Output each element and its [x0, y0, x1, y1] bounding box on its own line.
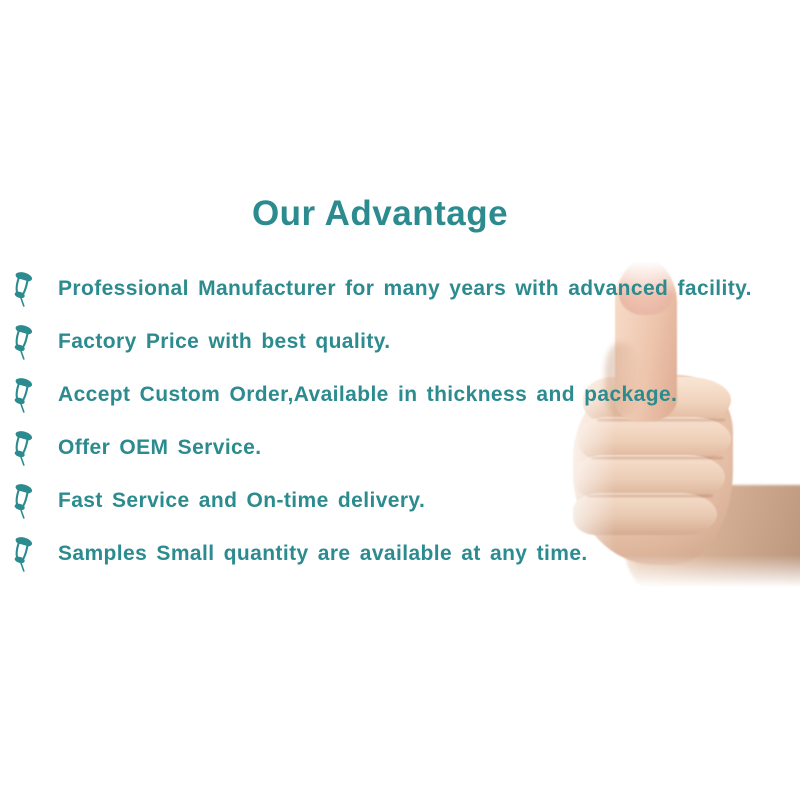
advantage-text: Samples Small quantity are available at …	[58, 542, 588, 566]
push-pin-icon	[6, 377, 40, 413]
list-item: Offer OEM Service.	[0, 421, 800, 474]
advantages-list: Professional Manufacturer for many years…	[0, 262, 800, 580]
push-pin-icon	[6, 324, 40, 360]
advantage-text: Fast Service and On-time delivery.	[58, 489, 425, 513]
advantage-text: Accept Custom Order,Available in thickne…	[58, 383, 677, 407]
list-item: Samples Small quantity are available at …	[0, 527, 800, 580]
list-item: Fast Service and On-time delivery.	[0, 474, 800, 527]
list-item: Accept Custom Order,Available in thickne…	[0, 368, 800, 421]
push-pin-icon	[6, 271, 40, 307]
advantage-text: Factory Price with best quality.	[58, 330, 391, 354]
push-pin-icon	[6, 483, 40, 519]
page-title: Our Advantage	[0, 194, 760, 234]
advantage-banner: Our Advantage Professional Manufacturer …	[0, 0, 800, 800]
push-pin-icon	[6, 430, 40, 466]
push-pin-icon	[6, 536, 40, 572]
advantage-text: Offer OEM Service.	[58, 436, 261, 460]
advantage-text: Professional Manufacturer for many years…	[58, 277, 752, 301]
list-item: Factory Price with best quality.	[0, 315, 800, 368]
list-item: Professional Manufacturer for many years…	[0, 262, 800, 315]
